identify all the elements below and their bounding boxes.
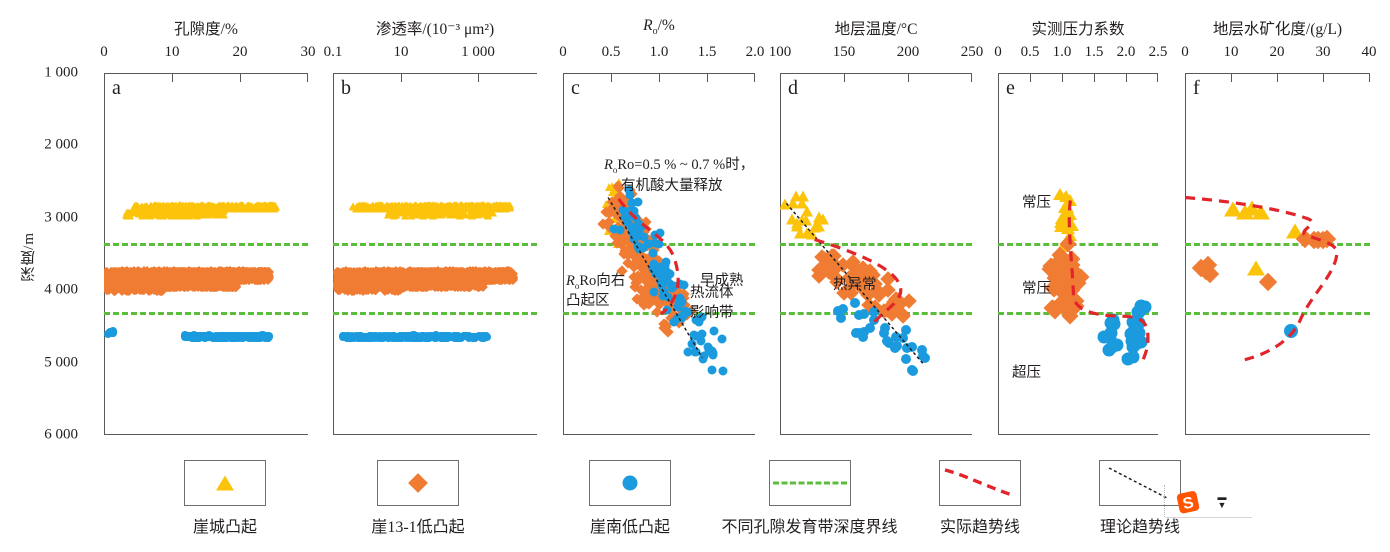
data-point-tri	[505, 204, 513, 211]
data-point-tri	[145, 207, 153, 214]
y-tick-4000: 4 000	[8, 282, 78, 299]
panel-a-title: 孔隙度/%	[104, 17, 308, 39]
data-point-tri	[441, 209, 449, 216]
pore-zone-boundary-line	[333, 243, 537, 246]
y-tick-2000: 2 000	[8, 137, 78, 154]
panel-a-xtick-10: 10	[165, 44, 180, 61]
y-tick-5000: 5 000	[8, 355, 78, 372]
data-point-tri	[236, 205, 244, 212]
figure-root: 深度/m 1 000 2 000 3 000 4 000 5 000 6 000…	[0, 0, 1390, 552]
panel-b-plot	[333, 73, 537, 435]
data-point-tri	[364, 203, 372, 210]
data-point-tri	[489, 210, 497, 217]
data-point-tri	[215, 210, 223, 217]
pore-zone-boundary-line	[104, 312, 308, 315]
y-tick-6000: 6 000	[8, 427, 78, 444]
data-point-tri	[452, 211, 460, 218]
data-point-cir	[181, 331, 189, 339]
data-point-tri	[168, 211, 176, 218]
panel-a-xtick-30: 30	[301, 44, 316, 61]
data-point-tri	[412, 211, 420, 218]
data-point-tri	[349, 204, 357, 211]
data-point-tri	[133, 209, 141, 216]
panel-a: 孔隙度/% a 0 10 20 30	[104, 73, 308, 435]
data-point-cir	[203, 332, 211, 340]
panel-b-xtick-10: 10	[394, 44, 409, 61]
panel-a-xtick-20: 20	[233, 44, 248, 61]
panel-b: 渗透率/(10⁻³ μm²) b 0.1 10 1 000	[333, 73, 537, 435]
panel-a-xtick-0: 0	[100, 44, 108, 61]
data-point-tri	[399, 209, 407, 216]
data-point-tri	[125, 211, 133, 218]
data-point-cir	[109, 329, 117, 337]
panel-b-xtick-1000: 1 000	[461, 44, 495, 61]
y-tick-3000: 3 000	[8, 210, 78, 227]
data-point-cir	[220, 332, 228, 340]
data-point-tri	[156, 212, 164, 219]
data-point-cir	[248, 332, 256, 340]
data-point-cir	[258, 331, 266, 339]
panel-b-xtick-0.1: 0.1	[324, 44, 343, 61]
data-point-tri	[192, 209, 200, 216]
data-point-tri	[472, 210, 480, 217]
data-point-tri	[243, 203, 251, 210]
pore-zone-boundary-line	[104, 243, 308, 246]
data-point-cir	[239, 334, 247, 342]
data-point-tri	[260, 205, 268, 212]
y-axis-label: 深度/m	[22, 232, 44, 282]
panel-b-title: 渗透率/(10⁻³ μm²)	[333, 17, 537, 39]
pore-zone-boundary-line	[333, 312, 537, 315]
panel-a-plot	[104, 73, 308, 435]
data-point-tri	[425, 209, 433, 216]
y-tick-1000: 1 000	[8, 65, 78, 82]
